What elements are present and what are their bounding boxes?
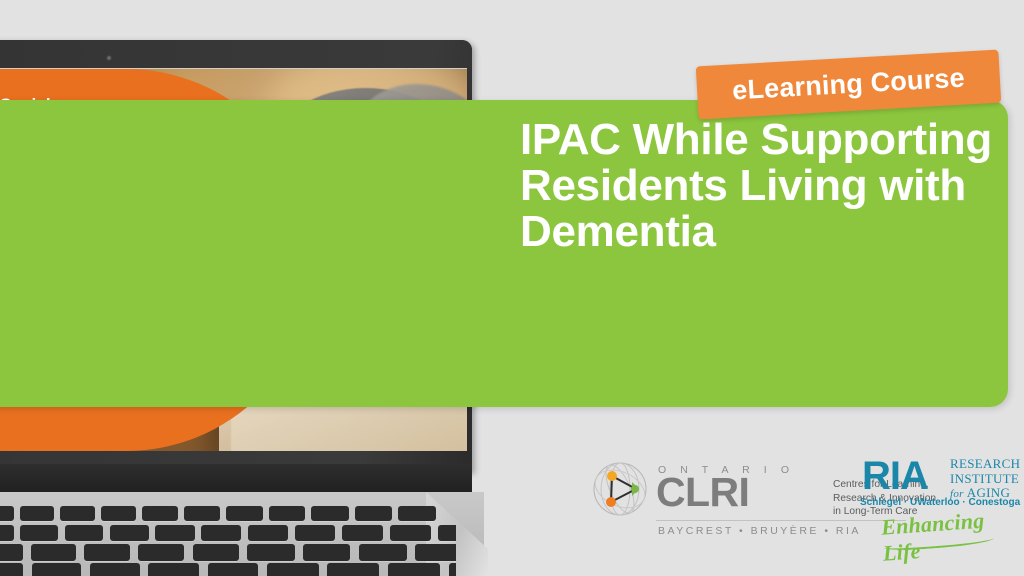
ontario-clri-logo: O N T A R I O CLRI Centres for Learning,… bbox=[586, 456, 844, 552]
keyboard-key bbox=[0, 525, 14, 541]
keyboard-key bbox=[226, 506, 262, 521]
laptop-hinge bbox=[0, 464, 472, 494]
keyboard-key bbox=[438, 525, 456, 541]
ria-slogan: Enhancing Life bbox=[880, 505, 1019, 566]
ria-wordmark: RESEARCH INSTITUTE for AGING bbox=[950, 457, 1024, 501]
keyboard-key bbox=[201, 525, 241, 541]
keyboard-key bbox=[388, 563, 440, 576]
keyboard-key bbox=[60, 506, 95, 521]
keyboard-key bbox=[415, 544, 456, 561]
keyboard-key bbox=[142, 506, 178, 521]
laptop-keyboard bbox=[0, 506, 456, 576]
ria-line-research: RESEARCH bbox=[950, 457, 1024, 472]
logo-row: O N T A R I O CLRI Centres for Learning,… bbox=[586, 452, 1018, 556]
keyboard-key bbox=[449, 563, 456, 576]
keyboard-key bbox=[248, 525, 288, 541]
course-title: IPAC While Supporting Residents Living w… bbox=[520, 117, 1020, 255]
clri-globe-icon bbox=[592, 461, 648, 517]
keyboard-key bbox=[193, 544, 240, 561]
keyboard-key bbox=[65, 525, 103, 541]
keyboard-key bbox=[295, 525, 336, 541]
elearning-course-badge-label: eLearning Course bbox=[731, 63, 965, 107]
keyboard-key bbox=[101, 506, 136, 521]
keyboard-key bbox=[208, 563, 259, 576]
keyboard-key bbox=[269, 506, 306, 521]
keyboard-key bbox=[247, 544, 294, 561]
clri-acronym: CLRI bbox=[656, 472, 749, 513]
slide-canvas: Social Ask yourself: What do I know abou… bbox=[0, 0, 1024, 576]
ria-line-institute: INSTITUTE bbox=[950, 472, 1024, 487]
keyboard-key bbox=[342, 525, 383, 541]
keyboard-key bbox=[390, 525, 432, 541]
keyboard-key bbox=[20, 525, 58, 541]
keyboard-key bbox=[327, 563, 379, 576]
keyboard-key bbox=[155, 525, 194, 541]
ria-logo: RIA RESEARCH INSTITUTE for AGING Schlege… bbox=[858, 452, 1018, 556]
keyboard-key bbox=[32, 563, 81, 576]
keyboard-key bbox=[267, 563, 318, 576]
keyboard-key bbox=[398, 506, 436, 521]
keyboard-key bbox=[0, 544, 23, 561]
keyboard-key bbox=[84, 544, 130, 561]
keyboard-key bbox=[303, 544, 351, 561]
keyboard-key bbox=[31, 544, 76, 561]
keyboard-key bbox=[148, 563, 198, 576]
keyboard-key bbox=[0, 506, 14, 521]
keyboard-key bbox=[0, 563, 23, 576]
clri-partners: BAYCREST • BRUYÈRE • RIA bbox=[658, 525, 861, 537]
keyboard-key bbox=[184, 506, 220, 521]
ria-acronym: RIA bbox=[862, 456, 928, 496]
keyboard-key bbox=[355, 506, 393, 521]
webcam-icon bbox=[106, 55, 112, 61]
keyboard-key bbox=[110, 525, 149, 541]
keyboard-key bbox=[20, 506, 54, 521]
keyboard-key bbox=[90, 563, 140, 576]
keyboard-key bbox=[311, 506, 348, 521]
keyboard-key bbox=[359, 544, 407, 561]
keyboard-key bbox=[138, 544, 184, 561]
